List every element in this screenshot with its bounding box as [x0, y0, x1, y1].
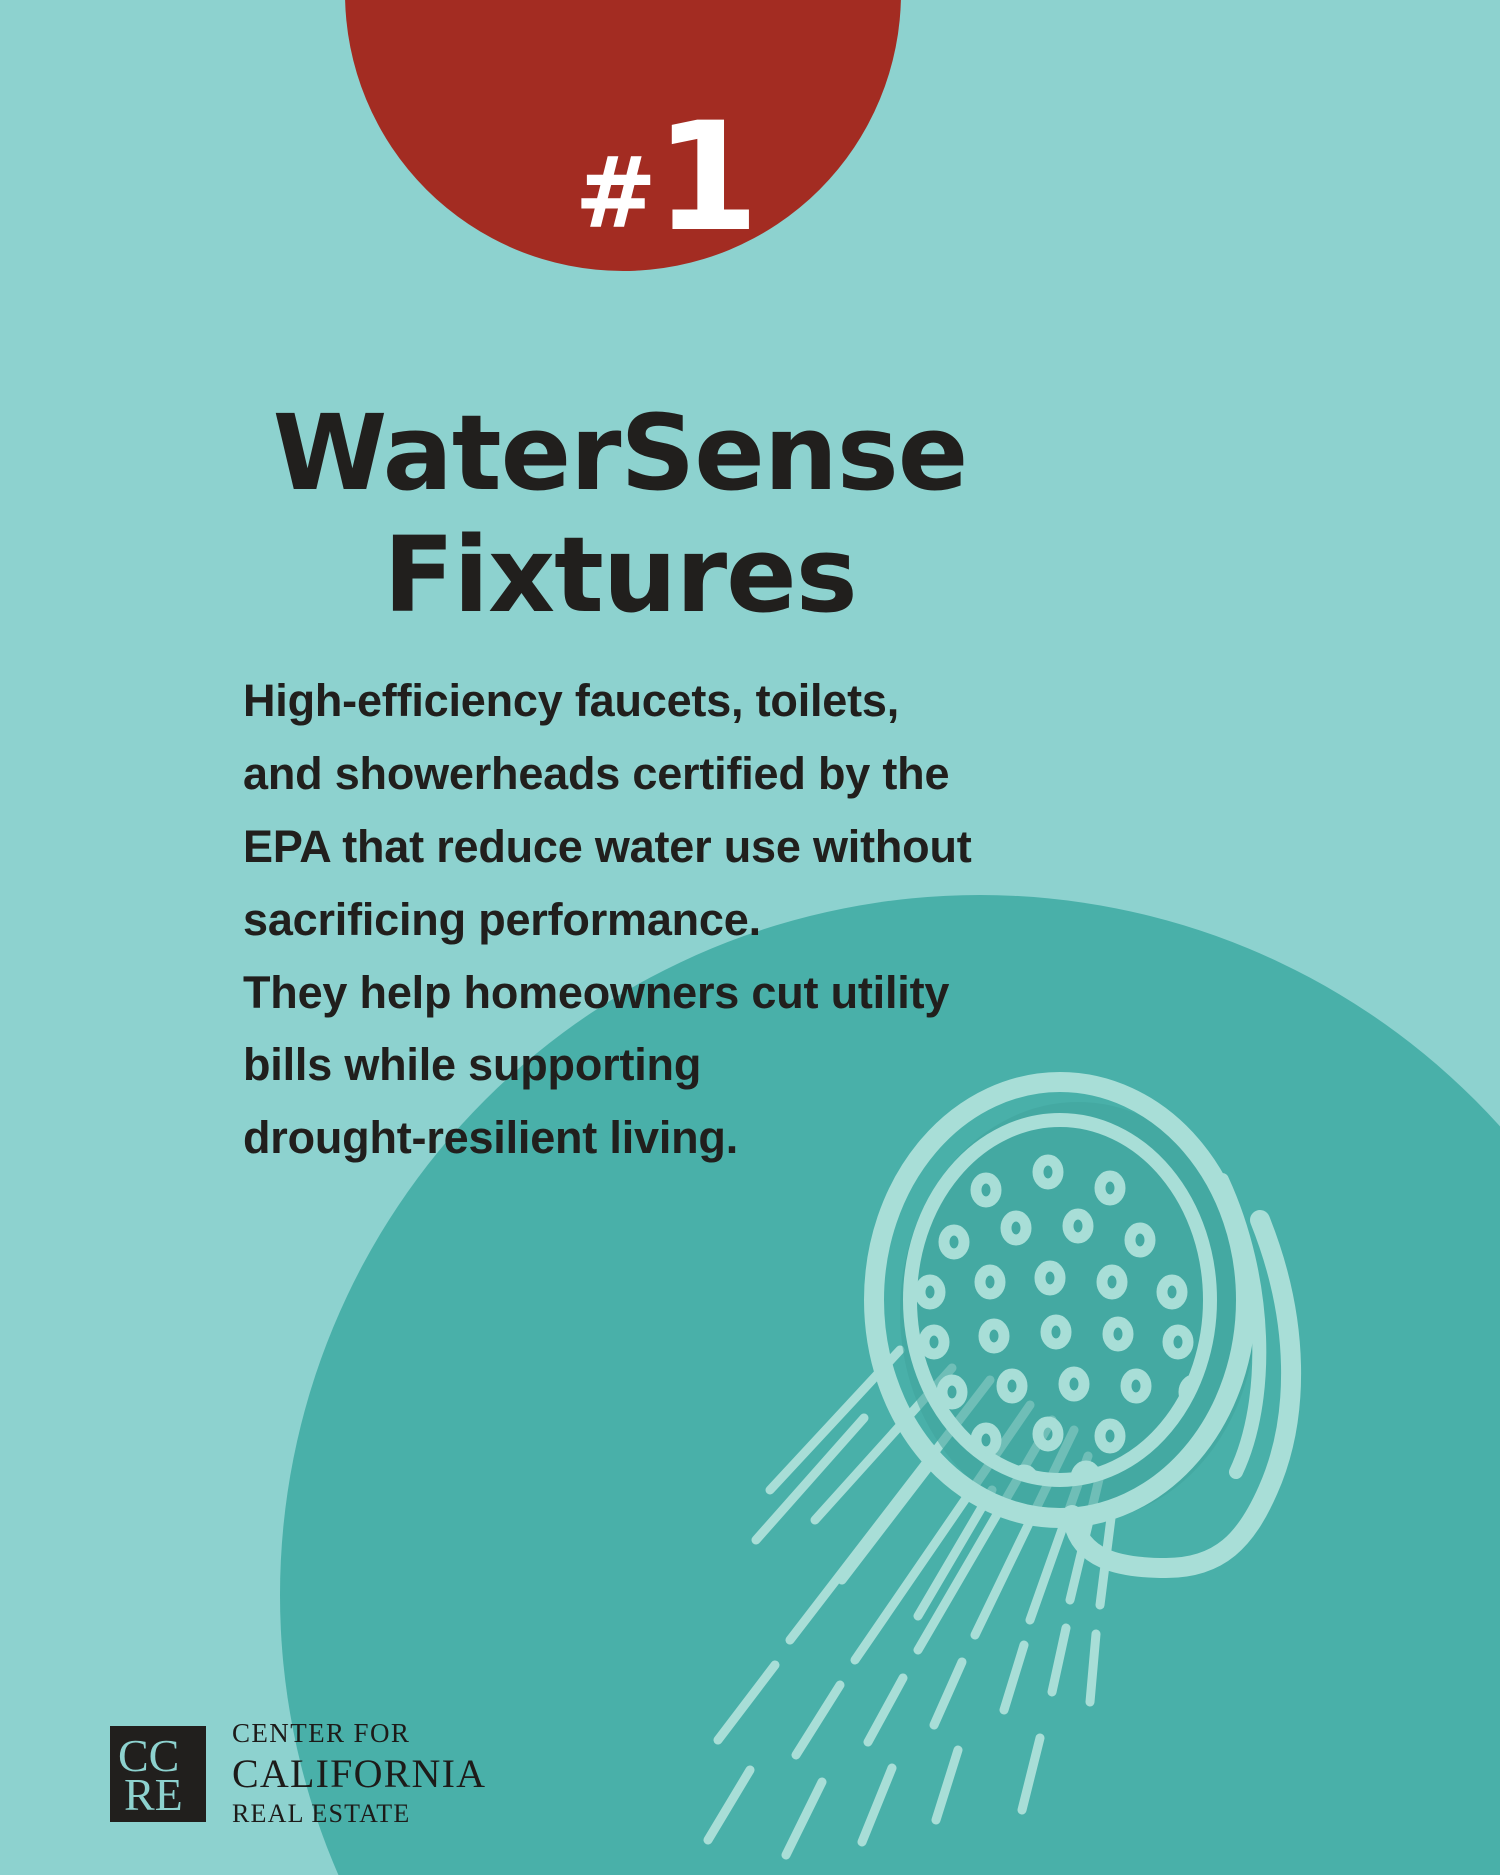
svg-text:RE: RE	[124, 1769, 183, 1820]
ccre-logo-mark: CC RE	[110, 1726, 206, 1822]
logo-line-3: REAL ESTATE	[232, 1801, 486, 1827]
body-line: and showerheads certified by the	[243, 738, 1053, 811]
body-line: High-efficiency faucets, toilets,	[243, 665, 1053, 738]
rank-badge: #1	[345, 0, 901, 271]
rank-badge-label: #1	[489, 103, 758, 271]
ccre-logo-wordmark: CENTER FOR CALIFORNIA REAL ESTATE	[232, 1720, 486, 1827]
body-copy: High-efficiency faucets, toilets, and sh…	[243, 665, 1053, 1175]
ccre-logo: CC RE CENTER FOR CALIFORNIA REAL ESTATE	[110, 1720, 486, 1827]
logo-line-1: CENTER FOR	[232, 1720, 486, 1747]
page-title: WaterSense Fixtures	[0, 392, 1240, 637]
body-line: EPA that reduce water use without	[243, 811, 1053, 884]
hash-icon: #	[575, 137, 655, 251]
body-line: sacrificing performance.	[243, 884, 1053, 957]
body-line: drought-resilient living.	[243, 1102, 1053, 1175]
rank-number: 1	[655, 91, 757, 265]
logo-line-2: CALIFORNIA	[232, 1754, 486, 1794]
page-title-line-1: WaterSense	[0, 392, 1240, 515]
body-line: bills while supporting	[243, 1029, 1053, 1102]
body-line: They help homeowners cut utility	[243, 957, 1053, 1030]
poster-canvas: #1 WaterSense Fixtures High-efficiency f…	[0, 0, 1500, 1875]
page-title-line-2: Fixtures	[0, 514, 1240, 637]
